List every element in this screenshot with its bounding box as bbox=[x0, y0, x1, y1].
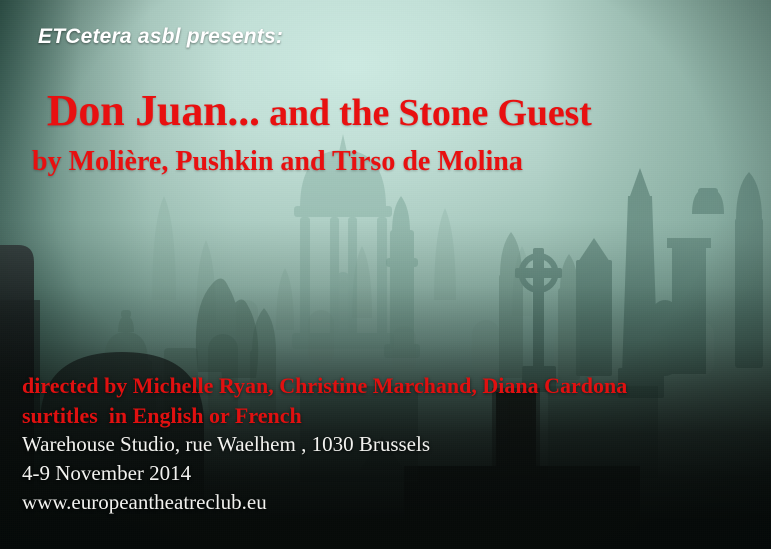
poster-text-block: ETCetera asbl presents: Don Juan... and … bbox=[0, 0, 771, 549]
dates-line: 4-9 November 2014 bbox=[22, 463, 191, 484]
poster-title: Don Juan... and the Stone Guest bbox=[24, 73, 592, 149]
surtitles-line: surtitles in English or French bbox=[22, 405, 302, 427]
venue-line: Warehouse Studio, rue Waelhem , 1030 Bru… bbox=[22, 434, 430, 455]
title-main: Don Juan... bbox=[47, 86, 260, 135]
title-rest: and the Stone Guest bbox=[260, 92, 592, 134]
directors-line: directed by Michelle Ryan, Christine Mar… bbox=[22, 375, 627, 397]
website-line: www.europeantheatreclub.eu bbox=[22, 492, 267, 513]
authors-line: by Molière, Pushkin and Tirso de Molina bbox=[32, 148, 523, 176]
presenter-line: ETCetera asbl presents: bbox=[38, 26, 283, 47]
poster-canvas: ETCetera asbl presents: Don Juan... and … bbox=[0, 0, 771, 549]
